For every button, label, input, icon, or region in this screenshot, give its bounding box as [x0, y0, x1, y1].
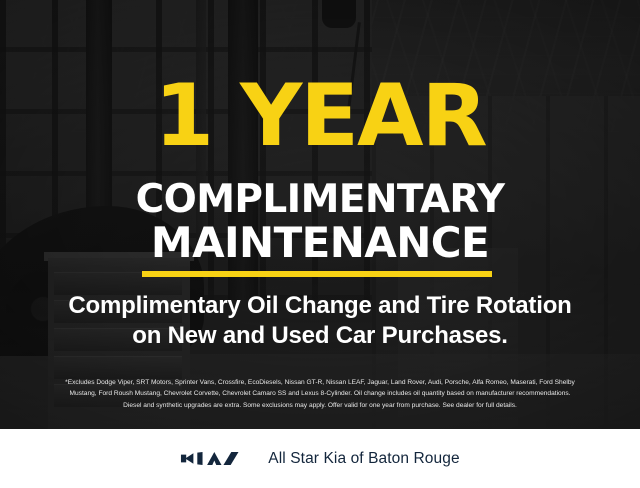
kia-logo-icon	[180, 450, 246, 467]
headline-complimentary: COMPLIMENTARY	[0, 180, 640, 219]
headline-maintenance: MAINTENANCE	[0, 222, 640, 264]
banner-content: 1 YEAR COMPLIMENTARY MAINTENANCE Complim…	[0, 0, 640, 488]
yellow-divider-rule	[142, 271, 492, 277]
offer-description-line-1: Complimentary Oil Change and Tire Rotati…	[0, 292, 640, 320]
disclaimer-text: *Excludes Dodge Viper, SRT Motors, Sprin…	[14, 377, 626, 411]
disclaimer-line-3: Diesel and synthetic upgrades are extra.…	[14, 400, 626, 411]
disclaimer-line-2: Mustang, Ford Roush Mustang, Chevrolet C…	[14, 388, 626, 399]
disclaimer-line-1: *Excludes Dodge Viper, SRT Motors, Sprin…	[14, 377, 626, 388]
dealer-footer-bar: All Star Kia of Baton Rouge	[0, 429, 640, 488]
promo-banner: 1 YEAR COMPLIMENTARY MAINTENANCE Complim…	[0, 0, 640, 488]
dealer-name: All Star Kia of Baton Rouge	[268, 450, 459, 468]
offer-description-line-2: on New and Used Car Purchases.	[0, 322, 640, 350]
headline-year: 1 YEAR	[0, 77, 640, 156]
